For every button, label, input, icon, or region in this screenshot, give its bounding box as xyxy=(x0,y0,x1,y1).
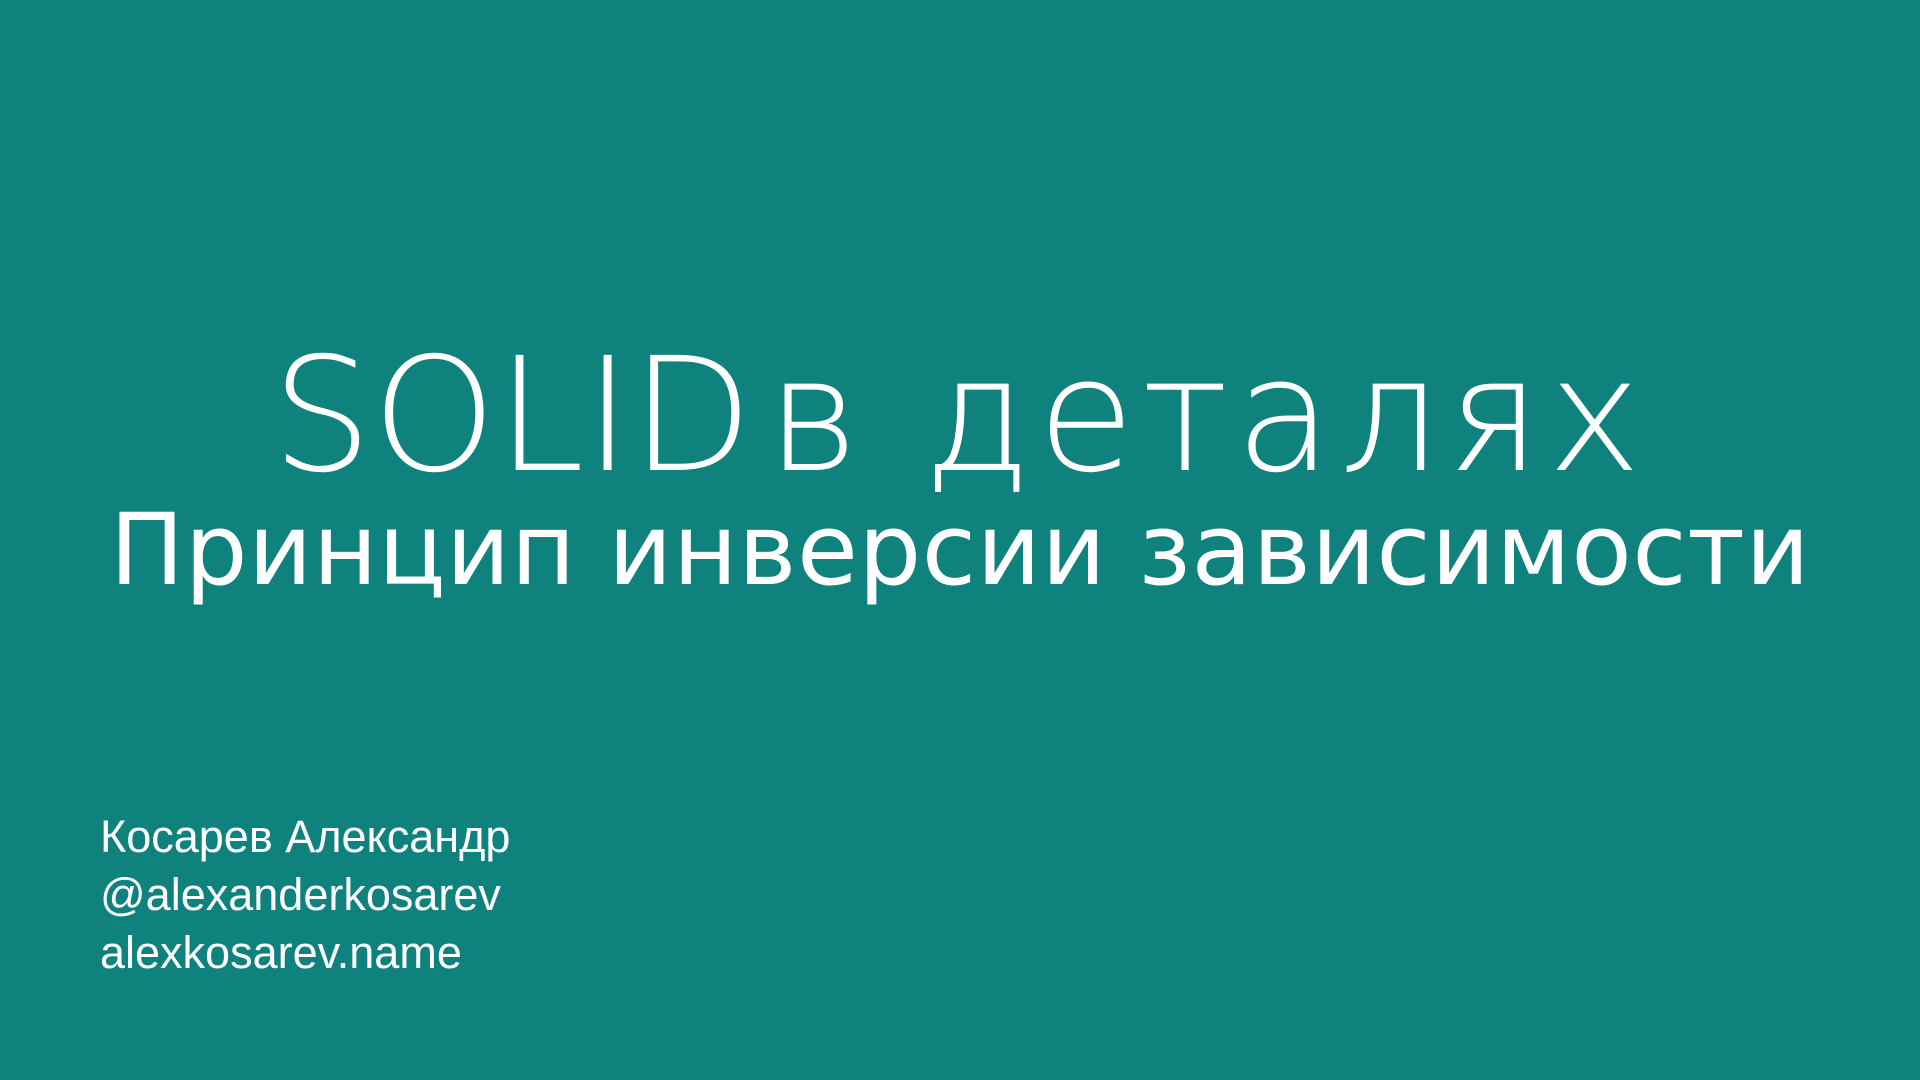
author-name: Косарев Александр xyxy=(100,808,510,866)
slide-title-cyrillic: в деталях xyxy=(753,324,1649,508)
title-block: SOLIDв деталях Принцип инверсии зависимо… xyxy=(0,0,1920,640)
author-social-handle: @alexanderkosarev xyxy=(100,866,501,924)
slide-subtitle: Принцип инверсии зависимости xyxy=(110,501,1810,640)
slide-title-latin: SOLID xyxy=(272,324,753,508)
author-block: Косарев Александр @alexanderkosarev alex… xyxy=(100,808,510,982)
presentation-title-slide: SOLIDв деталях Принцип инверсии зависимо… xyxy=(0,0,1920,1080)
slide-title: SOLIDв деталях xyxy=(272,337,1649,495)
author-website: alexkosarev.name xyxy=(100,924,462,982)
